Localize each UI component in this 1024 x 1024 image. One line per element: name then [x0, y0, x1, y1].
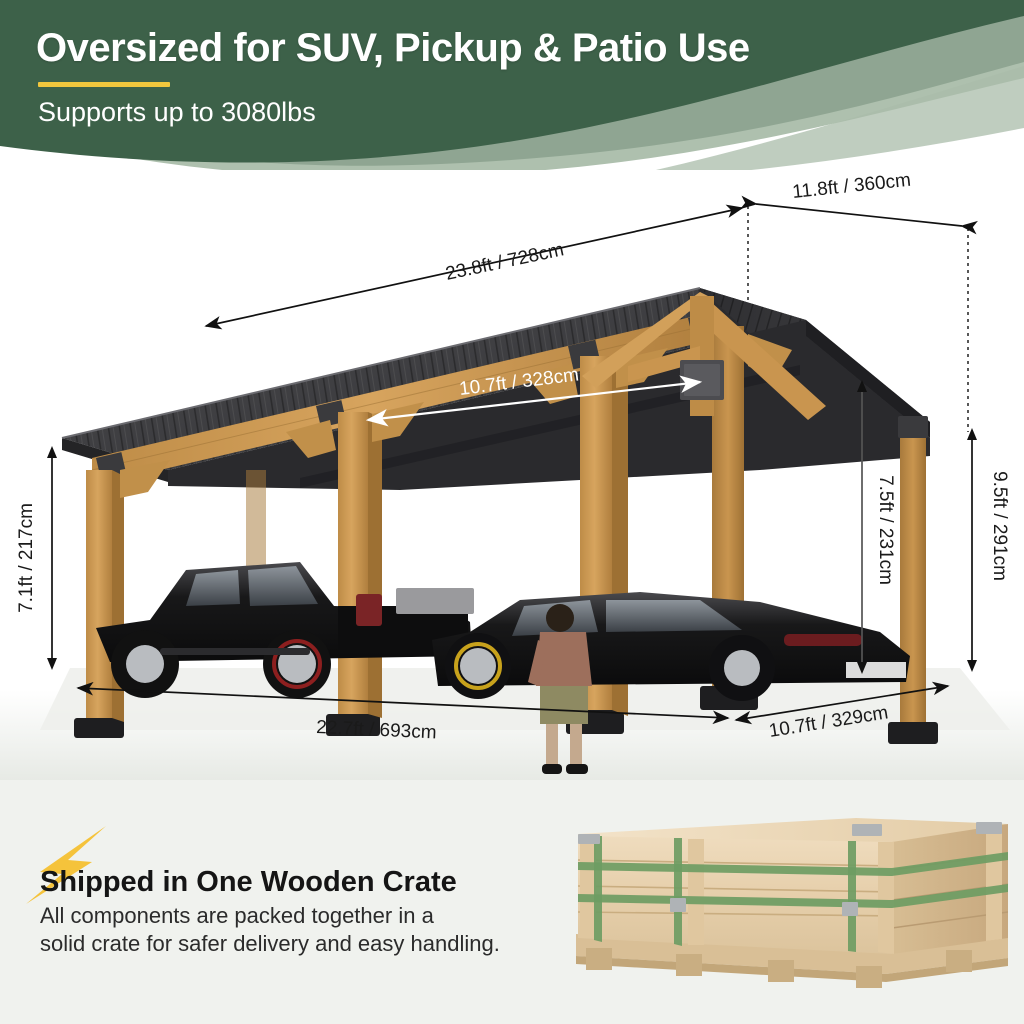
label-roof-depth: 11.8ft / 360cm — [791, 170, 912, 203]
dimension-post-height-left — [47, 446, 57, 670]
label-post-height-right: 7.5ft / 231cm — [875, 475, 896, 585]
title-underline-rule — [38, 82, 170, 87]
page-title: Oversized for SUV, Pickup & Patio Use — [36, 26, 750, 71]
label-roof-length: 23.8ft / 728cm — [444, 239, 566, 285]
product-infographic: Oversized for SUV, Pickup & Patio Use Su… — [0, 0, 1024, 1024]
carport-diagram: 11.8ft / 360cm 23.8ft / 728cm 10.7ft / 3… — [0, 170, 1024, 780]
truck-bed-fuel-can — [356, 594, 382, 626]
sedan-taillight — [784, 634, 862, 646]
person-shirt — [536, 632, 592, 686]
shipping-info-section: Shipped in One Wooden Crate All componen… — [0, 780, 1024, 1024]
header-banner: Oversized for SUV, Pickup & Patio Use Su… — [0, 0, 1024, 178]
shipping-description: All components are packed together in a … — [40, 902, 500, 958]
carport-illustration: 11.8ft / 360cm 23.8ft / 728cm 10.7ft / 3… — [0, 170, 1024, 780]
shipping-heading: Shipped in One Wooden Crate — [40, 866, 457, 899]
page-subtitle: Supports up to 3080lbs — [38, 97, 316, 128]
truck-bed-toolbox — [396, 588, 474, 614]
truck-running-board — [160, 648, 310, 655]
wooden-crate-image — [556, 798, 1008, 988]
label-peak-height: 9.5ft / 291cm — [989, 471, 1010, 581]
person-head — [546, 604, 574, 632]
person-shorts — [540, 686, 588, 724]
sedan-rear-diffuser — [846, 662, 906, 678]
right-eave-bracket — [898, 416, 928, 438]
dimension-peak-height — [967, 428, 977, 672]
label-post-height-left: 7.1ft / 217cm — [16, 503, 37, 613]
